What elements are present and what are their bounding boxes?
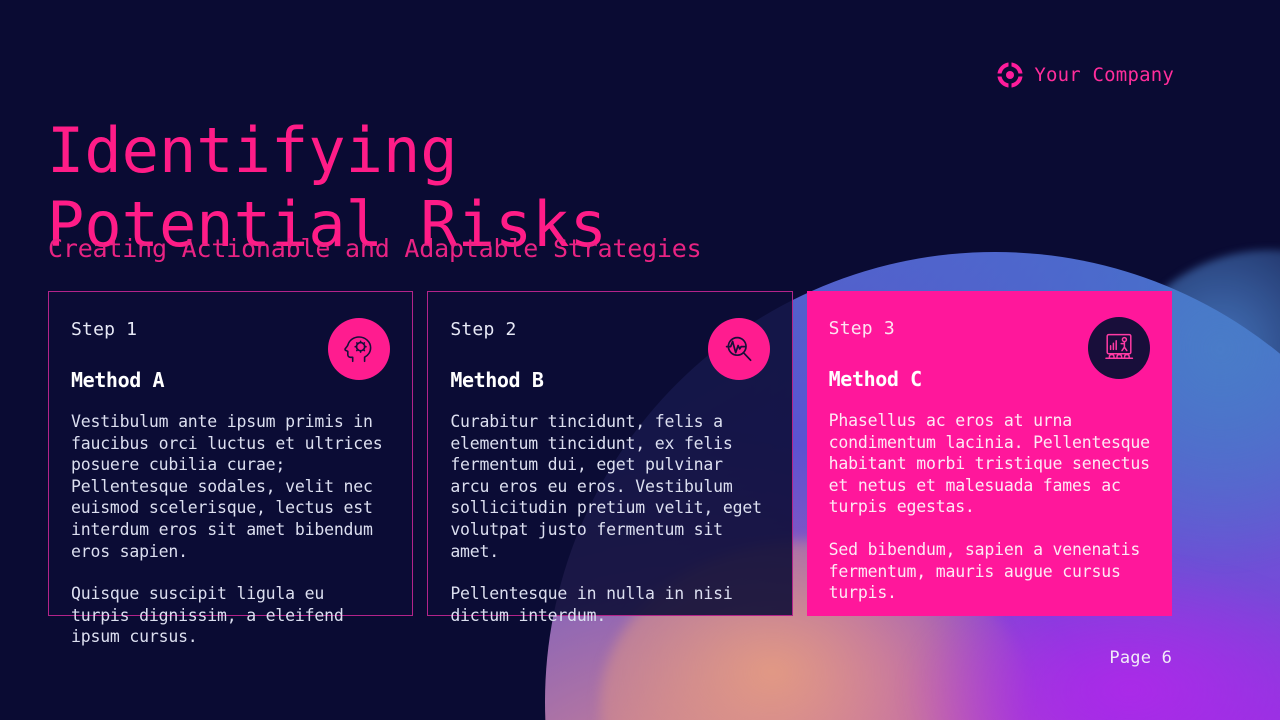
step-card-2[interactable]: Step 2 Method B Curabitur tincidunt, fel… — [427, 291, 792, 616]
step-body-3: Phasellus ac eros at urna condimentum la… — [829, 410, 1150, 604]
step-body-1-paragraph-1: Vestibulum ante ipsum primis in faucibus… — [71, 411, 390, 562]
brand-name-label: Your Company — [1034, 64, 1174, 86]
step-body-1: Vestibulum ante ipsum primis in faucibus… — [71, 411, 390, 648]
step-body-2-paragraph-1: Curabitur tincidunt, felis a elementum t… — [450, 411, 769, 562]
page-subtitle: Creating Actionable and Adaptable Strate… — [48, 232, 701, 265]
brand-lockup: Your Company — [996, 61, 1174, 89]
head-with-gear-icon — [328, 318, 390, 380]
step-card-3[interactable]: Step 3 Method C Phasellus ac eros at urn… — [807, 291, 1172, 616]
step-body-1-paragraph-2: Quisque suscipit ligula eu turpis dignis… — [71, 583, 390, 648]
step-body-2: Curabitur tincidunt, felis a elementum t… — [450, 411, 769, 626]
step-card-1[interactable]: Step 1 Method A Vestibulum ante ipsum pr… — [48, 291, 413, 616]
page-number: Page 6 — [1109, 648, 1172, 668]
steps-card-group: Step 1 Method A Vestibulum ante ipsum pr… — [48, 291, 1172, 616]
slide-canvas: Your Company Identifying Potential Risks… — [0, 0, 1280, 720]
step-body-2-paragraph-2: Pellentesque in nulla in nisi dictum int… — [450, 583, 769, 626]
presentation-training-icon — [1088, 317, 1150, 379]
target-aperture-icon — [996, 61, 1024, 89]
magnifier-pulse-icon — [708, 318, 770, 380]
step-body-3-paragraph-1: Phasellus ac eros at urna condimentum la… — [829, 410, 1150, 518]
step-body-3-paragraph-2: Sed bibendum, sapien a venenatis ferment… — [829, 539, 1150, 604]
page-title-line-1: Identifying — [47, 114, 767, 188]
